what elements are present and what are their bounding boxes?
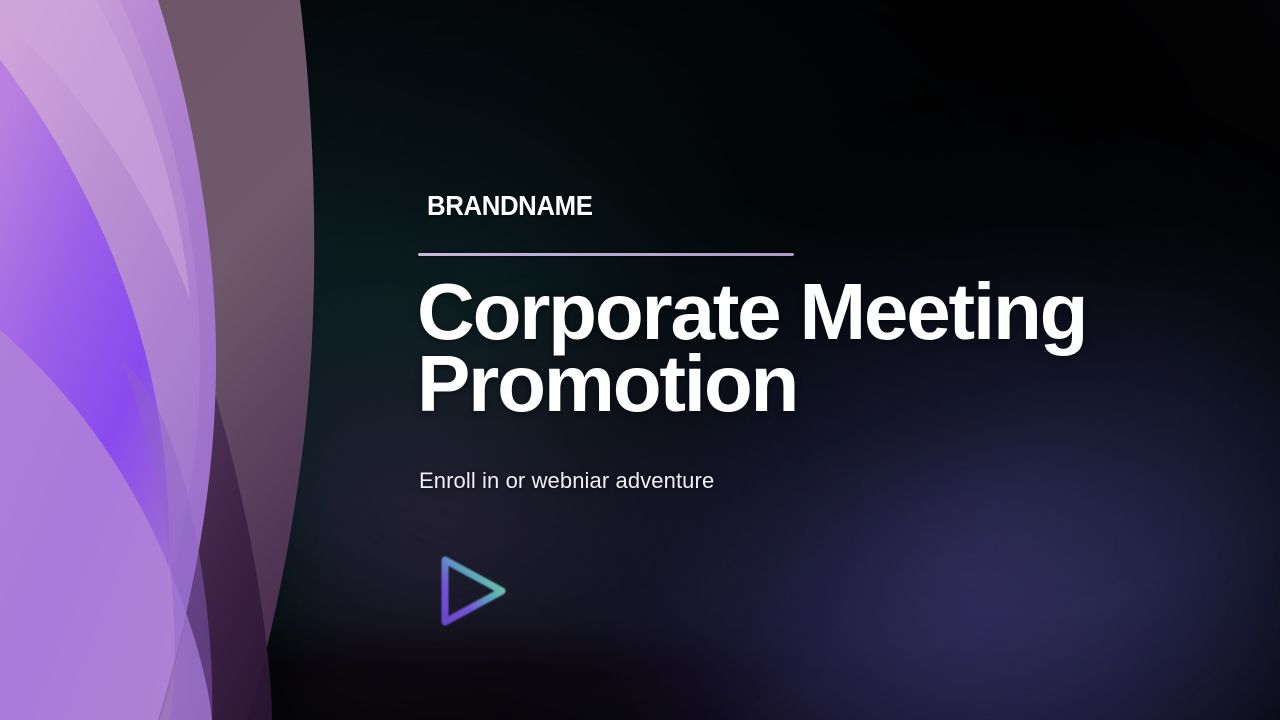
title-divider bbox=[418, 253, 794, 256]
promo-slide: BRANDNAME Corporate Meeting Promotion En… bbox=[0, 0, 1280, 720]
slide-content: BRANDNAME Corporate Meeting Promotion En… bbox=[417, 0, 1217, 720]
play-triangle-icon[interactable] bbox=[432, 550, 514, 632]
page-title: Corporate Meeting Promotion bbox=[417, 276, 1217, 420]
title-line-1: Corporate Meeting bbox=[417, 276, 1217, 348]
title-line-2: Promotion bbox=[417, 348, 1217, 420]
subtitle: Enroll in or webniar adventure bbox=[419, 468, 714, 494]
decorative-shapes bbox=[0, 0, 330, 720]
brand-name: BRANDNAME bbox=[427, 192, 593, 220]
